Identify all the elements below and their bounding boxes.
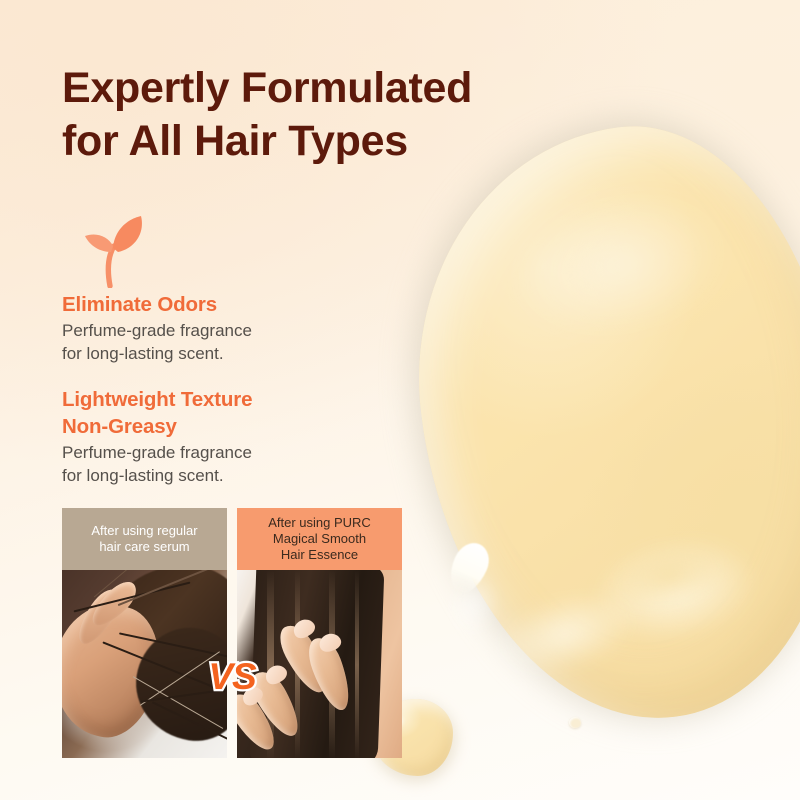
label-after-line-3: Hair Essence [268, 547, 371, 563]
feature-title: Eliminate Odors [62, 292, 392, 318]
headline-line-2: for All Hair Types [62, 115, 622, 168]
feature-body-line-1: Perfume-grade fragrance [62, 442, 392, 465]
feature-body: Perfume-grade fragrance for long-lasting… [62, 320, 392, 365]
serum-micro-droplet [569, 717, 581, 728]
feature-title-line-2: Non-Greasy [62, 414, 392, 440]
photo-smooth-hair [237, 570, 402, 758]
sprout-icon [66, 212, 158, 288]
hair-sheen [355, 570, 359, 758]
feature-title: Lightweight Texture Non-Greasy [62, 387, 392, 439]
page-title: Expertly Formulated for All Hair Types [62, 62, 622, 169]
feature-body-line-1: Perfume-grade fragrance [62, 320, 392, 343]
label-after-line-1: After using PURC [268, 515, 371, 531]
photo-frizzy-hair [62, 570, 227, 758]
feature-title-line-1: Lightweight Texture [62, 387, 392, 413]
comparison-block: After using regular hair care serum [62, 508, 402, 758]
comparison-card-after: After using PURC Magical Smooth Hair Ess… [237, 508, 402, 758]
comparison-label-before: After using regular hair care serum [62, 508, 227, 570]
vs-badge: VS [208, 656, 255, 698]
feature-body-line-2: for long-lasting scent. [62, 343, 392, 366]
feature-title-line-1: Eliminate Odors [62, 292, 392, 318]
feature-body-line-2: for long-lasting scent. [62, 465, 392, 488]
comparison-label-after: After using PURC Magical Smooth Hair Ess… [237, 508, 402, 570]
product-banner: Expertly Formulated for All Hair Types E… [0, 0, 800, 800]
label-after-line-2: Magical Smooth [268, 531, 371, 547]
feature-body: Perfume-grade fragrance for long-lasting… [62, 442, 392, 487]
comparison-card-before: After using regular hair care serum [62, 508, 227, 758]
label-before-line-2: hair care serum [91, 539, 197, 555]
feature-item: Eliminate Odors Perfume-grade fragrance … [62, 292, 392, 365]
headline-line-1: Expertly Formulated [62, 62, 622, 115]
feature-item: Lightweight Texture Non-Greasy Perfume-g… [62, 387, 392, 487]
feature-list: Eliminate Odors Perfume-grade fragrance … [62, 292, 392, 487]
label-before-line-1: After using regular [91, 523, 197, 539]
